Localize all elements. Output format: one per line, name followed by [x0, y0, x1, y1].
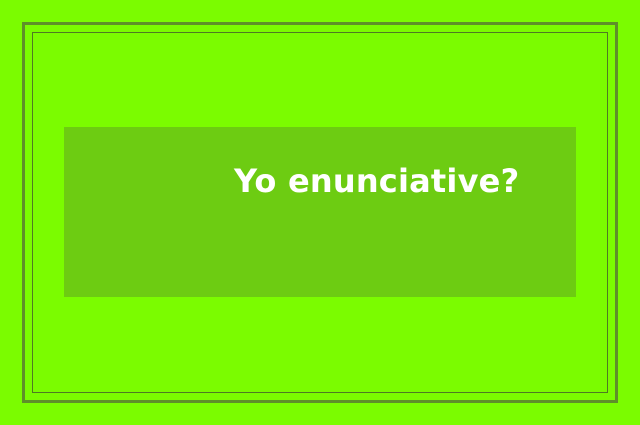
headline-text: Yo enunciative?	[234, 151, 554, 211]
card-canvas: Yo enunciative?	[0, 0, 640, 425]
headline-panel: Yo enunciative?	[64, 127, 576, 297]
